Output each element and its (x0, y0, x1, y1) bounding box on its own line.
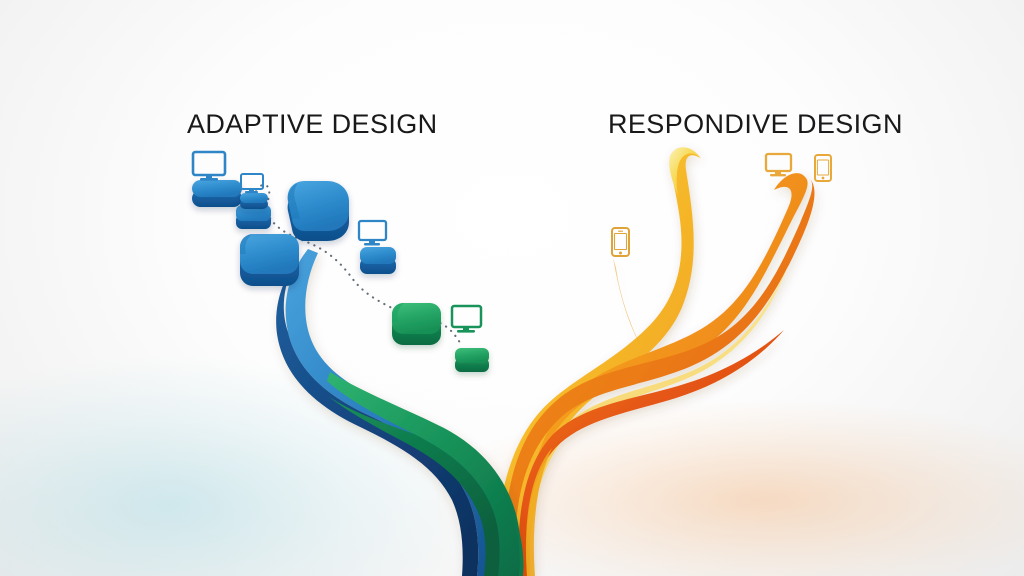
respondive-branch-region[interactable] (560, 95, 890, 425)
infographic-canvas: ADAPTIVE DESIGN RESPONDIVE DESIGN (0, 0, 1024, 576)
adaptive-branch-region[interactable] (150, 95, 510, 425)
